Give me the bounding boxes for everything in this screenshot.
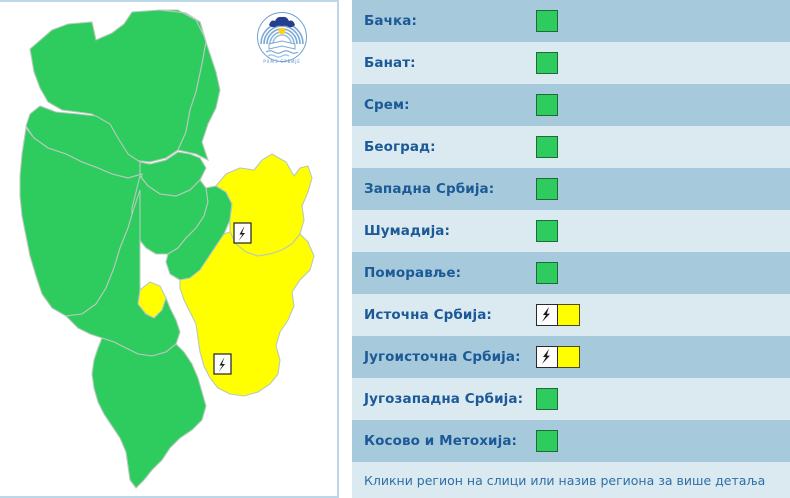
rhmz-srbije-logo: РХМЗ СРБИЈЕ <box>256 11 308 67</box>
map-region-kosovo-i-metohija <box>92 338 206 488</box>
region-row-pomoravlje[interactable]: Поморавље: <box>352 252 790 294</box>
thunderstorm-icon <box>536 346 558 368</box>
green-square-icon <box>536 388 558 410</box>
region-label[interactable]: Шумадија: <box>364 223 536 239</box>
region-label[interactable]: Београд: <box>364 139 536 155</box>
region-row-jugoistocna-srbija[interactable]: Југоисточна Србија: <box>352 336 790 378</box>
region-label[interactable]: Косово и Метохија: <box>364 433 536 449</box>
warning-level-indicator <box>536 430 558 452</box>
region-label[interactable]: Бачка: <box>364 13 536 29</box>
region-label[interactable]: Југозападна Србија: <box>364 391 536 407</box>
green-square-icon <box>536 136 558 158</box>
thunderstorm-marker-istocna-srbija[interactable] <box>234 223 251 243</box>
warning-level-indicator <box>536 220 558 242</box>
serbia-warning-map[interactable]: .reg { stroke:#b9c9bd; stroke-width:1.1;… <box>0 2 335 496</box>
green-square-icon <box>536 52 558 74</box>
warning-level-indicator <box>536 346 580 368</box>
green-square-icon <box>536 430 558 452</box>
warning-level-indicator <box>536 304 580 326</box>
region-label[interactable]: Банат: <box>364 55 536 71</box>
bird-crown-icon <box>269 17 295 27</box>
sun-icon <box>279 28 286 35</box>
green-square-icon <box>536 220 558 242</box>
warning-level-indicator <box>536 136 558 158</box>
region-row-sumadija[interactable]: Шумадија: <box>352 210 790 252</box>
region-row-istocna-srbija[interactable]: Источна Србија: <box>352 294 790 336</box>
green-square-icon <box>536 10 558 32</box>
green-square-icon <box>536 178 558 200</box>
region-warning-list: Бачка: Банат: Срем: Београд: Западна Срб <box>352 0 790 498</box>
warning-level-indicator <box>536 10 558 32</box>
region-label[interactable]: Југоисточна Србија: <box>364 349 536 365</box>
region-row-kosovo-i-metohija[interactable]: Косово и Метохија: <box>352 420 790 462</box>
yellow-square-icon <box>558 304 580 326</box>
region-row-jugozapadna-srbija[interactable]: Југозападна Србија: <box>352 378 790 420</box>
region-label[interactable]: Источна Србија: <box>364 307 536 323</box>
region-row-banat[interactable]: Банат: <box>352 42 790 84</box>
yellow-square-icon <box>558 346 580 368</box>
thunderstorm-marker-jugoistocna-srbija[interactable] <box>214 354 231 374</box>
warning-level-indicator <box>536 94 558 116</box>
warning-level-indicator <box>536 52 558 74</box>
instruction-text: Кликни регион на слици или назив региона… <box>364 473 765 488</box>
region-row-backa[interactable]: Бачка: <box>352 0 790 42</box>
thunderstorm-icon <box>536 304 558 326</box>
logo-caption: РХМЗ СРБИЈЕ <box>263 59 300 65</box>
region-row-srem[interactable]: Срем: <box>352 84 790 126</box>
warning-map-page: .reg { stroke:#b9c9bd; stroke-width:1.1;… <box>0 0 790 498</box>
region-label[interactable]: Западна Србија: <box>364 181 536 197</box>
map-panel: .reg { stroke:#b9c9bd; stroke-width:1.1;… <box>0 0 339 498</box>
region-label[interactable]: Поморавље: <box>364 265 536 281</box>
region-label[interactable]: Срем: <box>364 97 536 113</box>
warning-level-indicator <box>536 388 558 410</box>
region-row-zapadna-srbija[interactable]: Западна Србија: <box>352 168 790 210</box>
green-square-icon <box>536 94 558 116</box>
warning-level-indicator <box>536 262 558 284</box>
region-row-beograd[interactable]: Београд: <box>352 126 790 168</box>
green-square-icon <box>536 262 558 284</box>
map-instruction-note: Кликни регион на слици или назив региона… <box>352 462 790 498</box>
warning-level-indicator <box>536 178 558 200</box>
